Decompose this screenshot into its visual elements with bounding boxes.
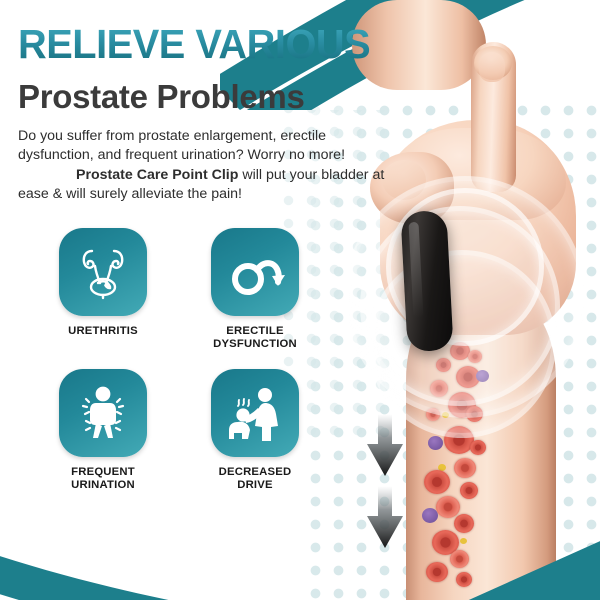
feature-label-line2: URINATION (71, 479, 135, 491)
feature-erectile-dysfunction[interactable]: ERECTILEDYSFUNCTION (200, 228, 310, 352)
couple-low-libido-icon (224, 382, 286, 444)
body-copy-part1: Do you suffer from prostate enlargement,… (18, 128, 345, 163)
feature-icon-box (59, 228, 147, 316)
feature-label: DECREASEDDRIVE (219, 466, 292, 493)
male-symbol-drooping-arrow-icon (224, 241, 286, 303)
feature-grid: URETHRITIS ERECTILEDYSFUNCTION (48, 228, 348, 493)
urinary-tract-icon (72, 241, 134, 303)
feature-frequent-urination[interactable]: FREQUENTURINATION (48, 369, 158, 493)
feature-icon-box (211, 369, 299, 457)
feature-label-line1: ERECTILE (226, 325, 283, 337)
body-copy: Do you suffer from prostate enlargement,… (18, 127, 386, 205)
page-title: RELIEVE VARIOUS (18, 23, 370, 65)
product-advertisement: RELIEVE VARIOUS Prostate Problems Do you… (0, 0, 600, 600)
feature-row-2: FREQUENTURINATION (48, 369, 348, 493)
feature-decreased-drive[interactable]: DECREASEDDRIVE (200, 369, 310, 493)
feature-label: ERECTILEDYSFUNCTION (213, 325, 297, 352)
feature-label-line2: DYSFUNCTION (213, 338, 297, 350)
feature-label-line2: DRIVE (237, 479, 273, 491)
feature-label-line1: DECREASED (219, 466, 292, 478)
feature-label: URETHRITIS (68, 325, 138, 338)
feature-icon-box (211, 228, 299, 316)
page-subtitle: Prostate Problems (18, 79, 305, 115)
feature-label-line1: FREQUENT (71, 466, 135, 478)
down-arrow-icon-bottom (365, 486, 405, 548)
product-name: Prostate Care Point Clip (76, 167, 238, 183)
fingernail (479, 52, 505, 82)
down-arrow-icon-top (365, 414, 405, 476)
feature-row-1: URETHRITIS ERECTILEDYSFUNCTION (48, 228, 348, 352)
wrist (352, 0, 486, 90)
feature-icon-box (59, 369, 147, 457)
feature-label: FREQUENTURINATION (71, 466, 135, 493)
feature-urethritis[interactable]: URETHRITIS (48, 228, 158, 352)
person-holding-urgency-icon (72, 382, 134, 444)
